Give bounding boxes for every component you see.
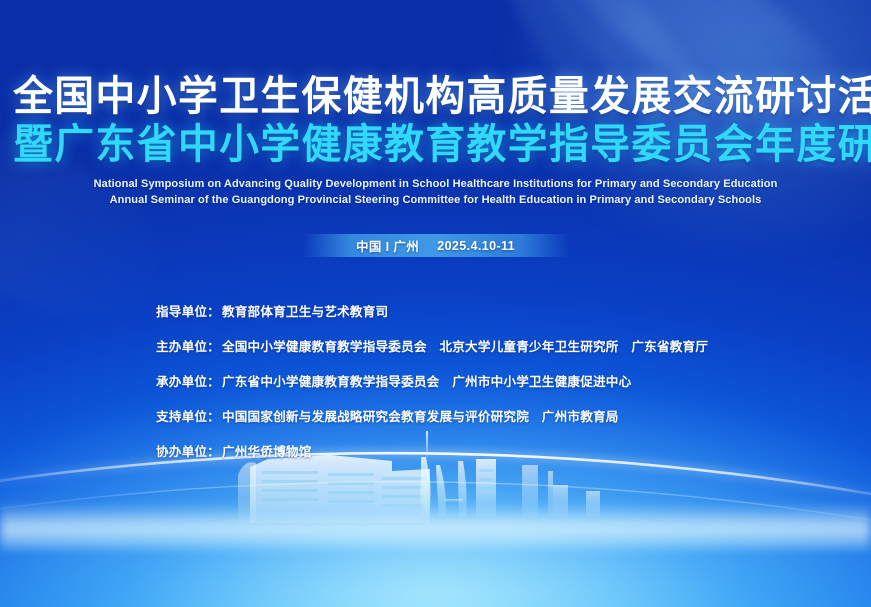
organization-label: 承办单位： xyxy=(156,371,220,390)
organization-label: 协办单位： xyxy=(156,441,220,460)
conference-poster: 全国中小学卫生保健机构高质量发展交流研讨活动 暨广东省中小学健康教育教学指导委员… xyxy=(0,0,871,607)
title-block: 全国中小学卫生保健机构高质量发展交流研讨活动 暨广东省中小学健康教育教学指导委员… xyxy=(0,0,871,208)
english-subtitle-line-1: National Symposium on Advancing Quality … xyxy=(7,177,865,193)
organization-label: 指导单位： xyxy=(156,301,220,320)
organization-row: 支持单位： 中国国家创新与发展战略研究会教育发展与评价研究院 广州市教育局 xyxy=(156,406,871,425)
organization-row: 协办单位： 广州华侨博物馆 xyxy=(156,441,871,460)
organization-value: 广州华侨博物馆 xyxy=(222,441,312,460)
event-badge-wrapper: 中国 I 广州 2025.4.10-11 xyxy=(0,234,871,257)
organization-value: 全国中小学健康教育教学指导委员会 北京大学儿童青少年卫生研究所 广东省教育厅 xyxy=(222,336,708,355)
event-badge: 中国 I 广州 2025.4.10-11 xyxy=(303,234,569,257)
event-location: 中国 I 广州 xyxy=(356,236,419,255)
english-subtitle: National Symposium on Advancing Quality … xyxy=(7,177,865,208)
organization-label: 支持单位： xyxy=(156,406,220,425)
organization-value: 教育部体育卫生与艺术教育司 xyxy=(222,301,388,320)
guangzhou-ifc xyxy=(522,465,538,517)
organization-value: 中国国家创新与发展战略研究会教育发展与评价研究院 广州市教育局 xyxy=(222,406,619,425)
organization-row: 承办单位： 广东省中小学健康教育教学指导委员会 广州市中小学卫生健康促进中心 xyxy=(156,371,871,390)
poster-title-line-2: 暨广东省中小学健康教育教学指导委员会年度研讨活动 xyxy=(13,120,858,168)
organization-label: 主办单位： xyxy=(156,336,220,355)
organization-value: 广东省中小学健康教育教学指导委员会 广州市中小学卫生健康促进中心 xyxy=(222,371,631,390)
ground-haze xyxy=(0,503,871,549)
english-subtitle-line-2: Annual Seminar of the Guangdong Provinci… xyxy=(7,193,865,209)
organization-list: 指导单位： 教育部体育卫生与艺术教育司 主办单位： 全国中小学健康教育教学指导委… xyxy=(0,301,871,460)
office-towers xyxy=(436,461,467,517)
poster-title-line-1: 全国中小学卫生保健机构高质量发展交流研讨活动 xyxy=(13,72,858,120)
ctf-finance-centre xyxy=(476,459,496,517)
event-date: 2025.4.10-11 xyxy=(437,239,515,253)
organization-row: 指导单位： 教育部体育卫生与艺术教育司 xyxy=(156,301,871,320)
right-towers xyxy=(548,471,600,517)
organization-row: 主办单位： 全国中小学健康教育教学指导委员会 北京大学儿童青少年卫生研究所 广东… xyxy=(156,336,871,355)
school-building xyxy=(238,455,430,523)
